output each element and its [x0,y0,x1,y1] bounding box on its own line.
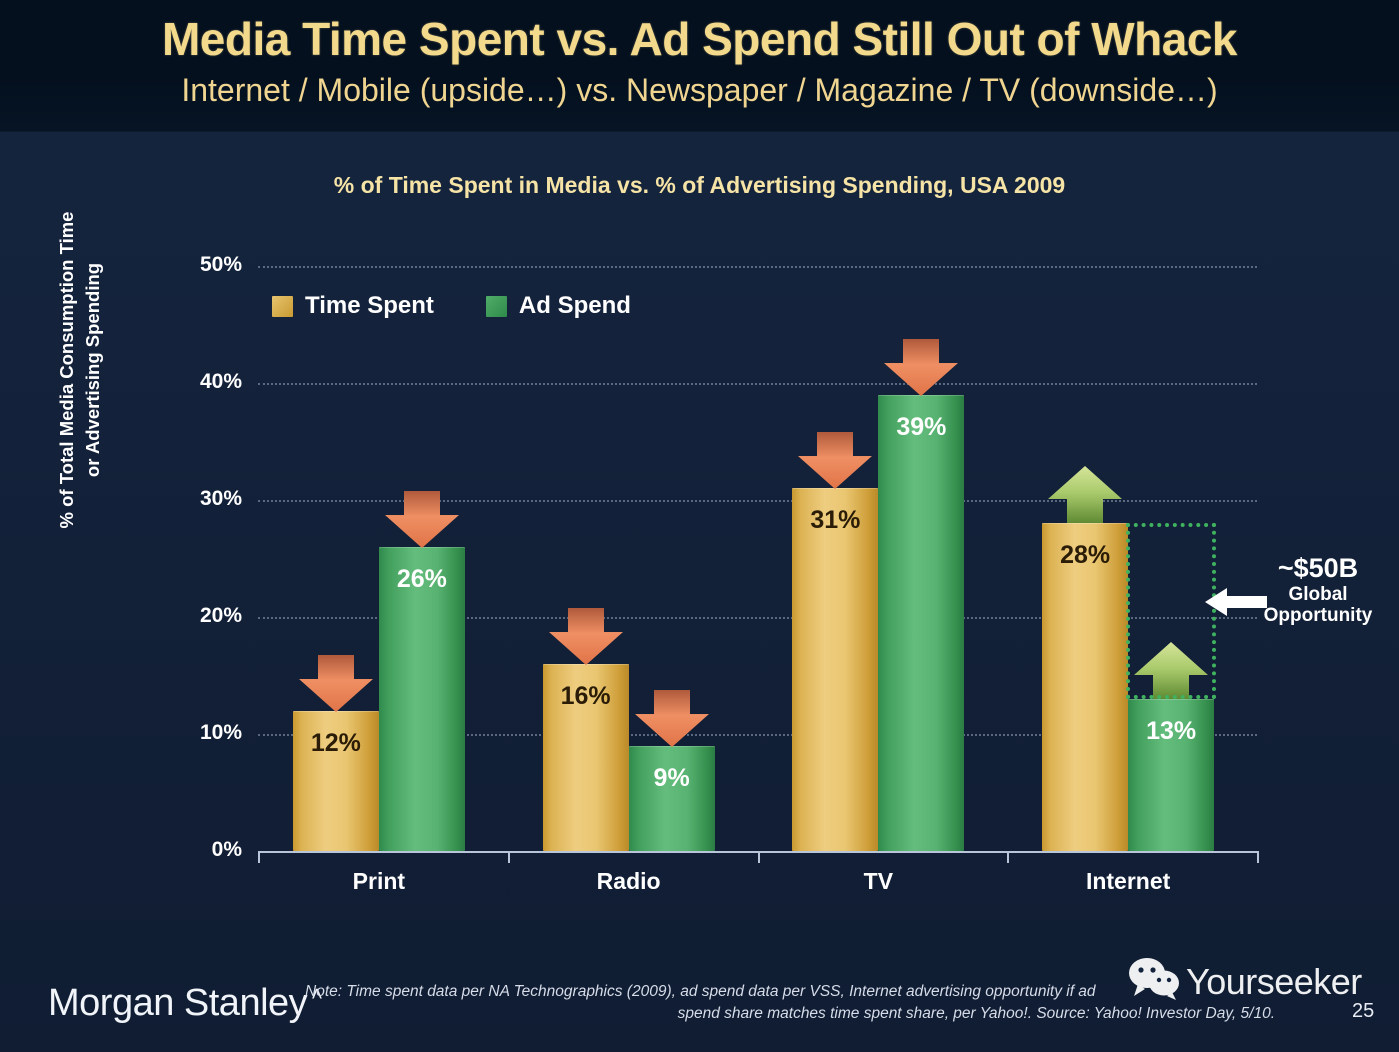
bar-value-label: 13% [1128,717,1214,746]
legend-item-ad-spend[interactable]: Ad Spend [486,292,631,320]
y-axis-title-line-2: or Advertising Spending [80,212,106,529]
bar-radio-time-spent[interactable]: 16% [543,664,629,851]
footnote: Note: Time spent data per NA Technograph… [305,981,1335,1026]
bar-print-ad-spend[interactable]: 26% [379,547,465,851]
plot-area: 12%26%16%9%31%39%28%13% [258,266,1257,851]
opportunity-annotation: ~$50B Global Opportunity [1238,553,1398,627]
page-subtitle: Internet / Mobile (upside…) vs. Newspape… [0,72,1399,109]
bar-radio-ad-spend[interactable]: 9% [629,746,715,851]
footnote-line-2: spend share matches time spent share, pe… [305,1003,1335,1025]
legend-label-ad-spend: Ad Spend [519,292,631,320]
y-axis-tick-label: 30% [172,487,242,511]
bar-tv-ad-spend[interactable]: 39% [878,395,964,851]
bar-value-label: 16% [543,682,629,711]
down-arrow-icon [383,489,461,556]
down-arrow-icon [882,337,960,404]
bar-value-label: 39% [878,413,964,442]
down-arrow-icon [297,653,375,720]
chart-legend: Time Spent Ad Spend [272,292,631,320]
x-axis-label-tv: TV [768,868,988,895]
up-arrow-icon [1046,463,1124,530]
bar-internet-ad-spend[interactable]: 13% [1128,699,1214,851]
x-axis-tick [1007,851,1009,863]
down-arrow-icon [633,688,711,755]
gridline [258,383,1257,385]
legend-label-time-spent: Time Spent [305,292,434,320]
chart-title: % of Time Spent in Media vs. % of Advert… [0,172,1399,199]
footnote-line-1: Note: Time spent data per NA Technograph… [305,981,1335,1003]
bar-tv-time-spent[interactable]: 31% [792,488,878,851]
gridline [258,266,1257,268]
bar-value-label: 12% [293,729,379,758]
bar-internet-time-spent[interactable]: 28% [1042,523,1128,851]
x-axis-tick-end [258,851,260,863]
opportunity-box [1126,523,1216,699]
x-axis-tick [758,851,760,863]
bar-print-time-spent[interactable]: 12% [293,711,379,851]
bar-value-label: 28% [1042,541,1128,570]
y-axis-tick-label: 40% [172,370,242,394]
slide-canvas: Media Time Spent vs. Ad Spend Still Out … [0,0,1399,1052]
annotation-amount: ~$50B [1238,553,1398,584]
x-axis-label-internet: Internet [1018,868,1238,895]
brand-logo: Morgan Stanley˄ [48,982,322,1025]
legend-swatch-icon-ad-spend [486,296,507,317]
brand-logo-text: Morgan Stanley [48,982,307,1024]
legend-item-time-spent[interactable]: Time Spent [272,292,434,320]
bar-value-label: 26% [379,565,465,594]
bar-value-label: 9% [629,764,715,793]
page-number: 25 [1352,1000,1374,1023]
y-axis-tick-label: 10% [172,721,242,745]
annotation-line-2: Global [1238,584,1398,606]
down-arrow-icon [796,430,874,497]
y-axis-tick-label: 50% [172,253,242,277]
y-axis-tick-label: 0% [172,838,242,862]
x-axis-tick [508,851,510,863]
y-axis-tick-label: 20% [172,604,242,628]
down-arrow-icon [547,606,625,673]
x-axis-label-print: Print [269,868,489,895]
annotation-line-3: Opportunity [1238,605,1398,627]
x-axis-tick-end [1257,851,1259,863]
page-title: Media Time Spent vs. Ad Spend Still Out … [0,12,1399,66]
legend-swatch-icon-time-spent [272,296,293,317]
x-axis-label-radio: Radio [519,868,739,895]
bar-value-label: 31% [792,506,878,535]
y-axis-title-line-1: % of Total Media Consumption Time [54,212,80,529]
